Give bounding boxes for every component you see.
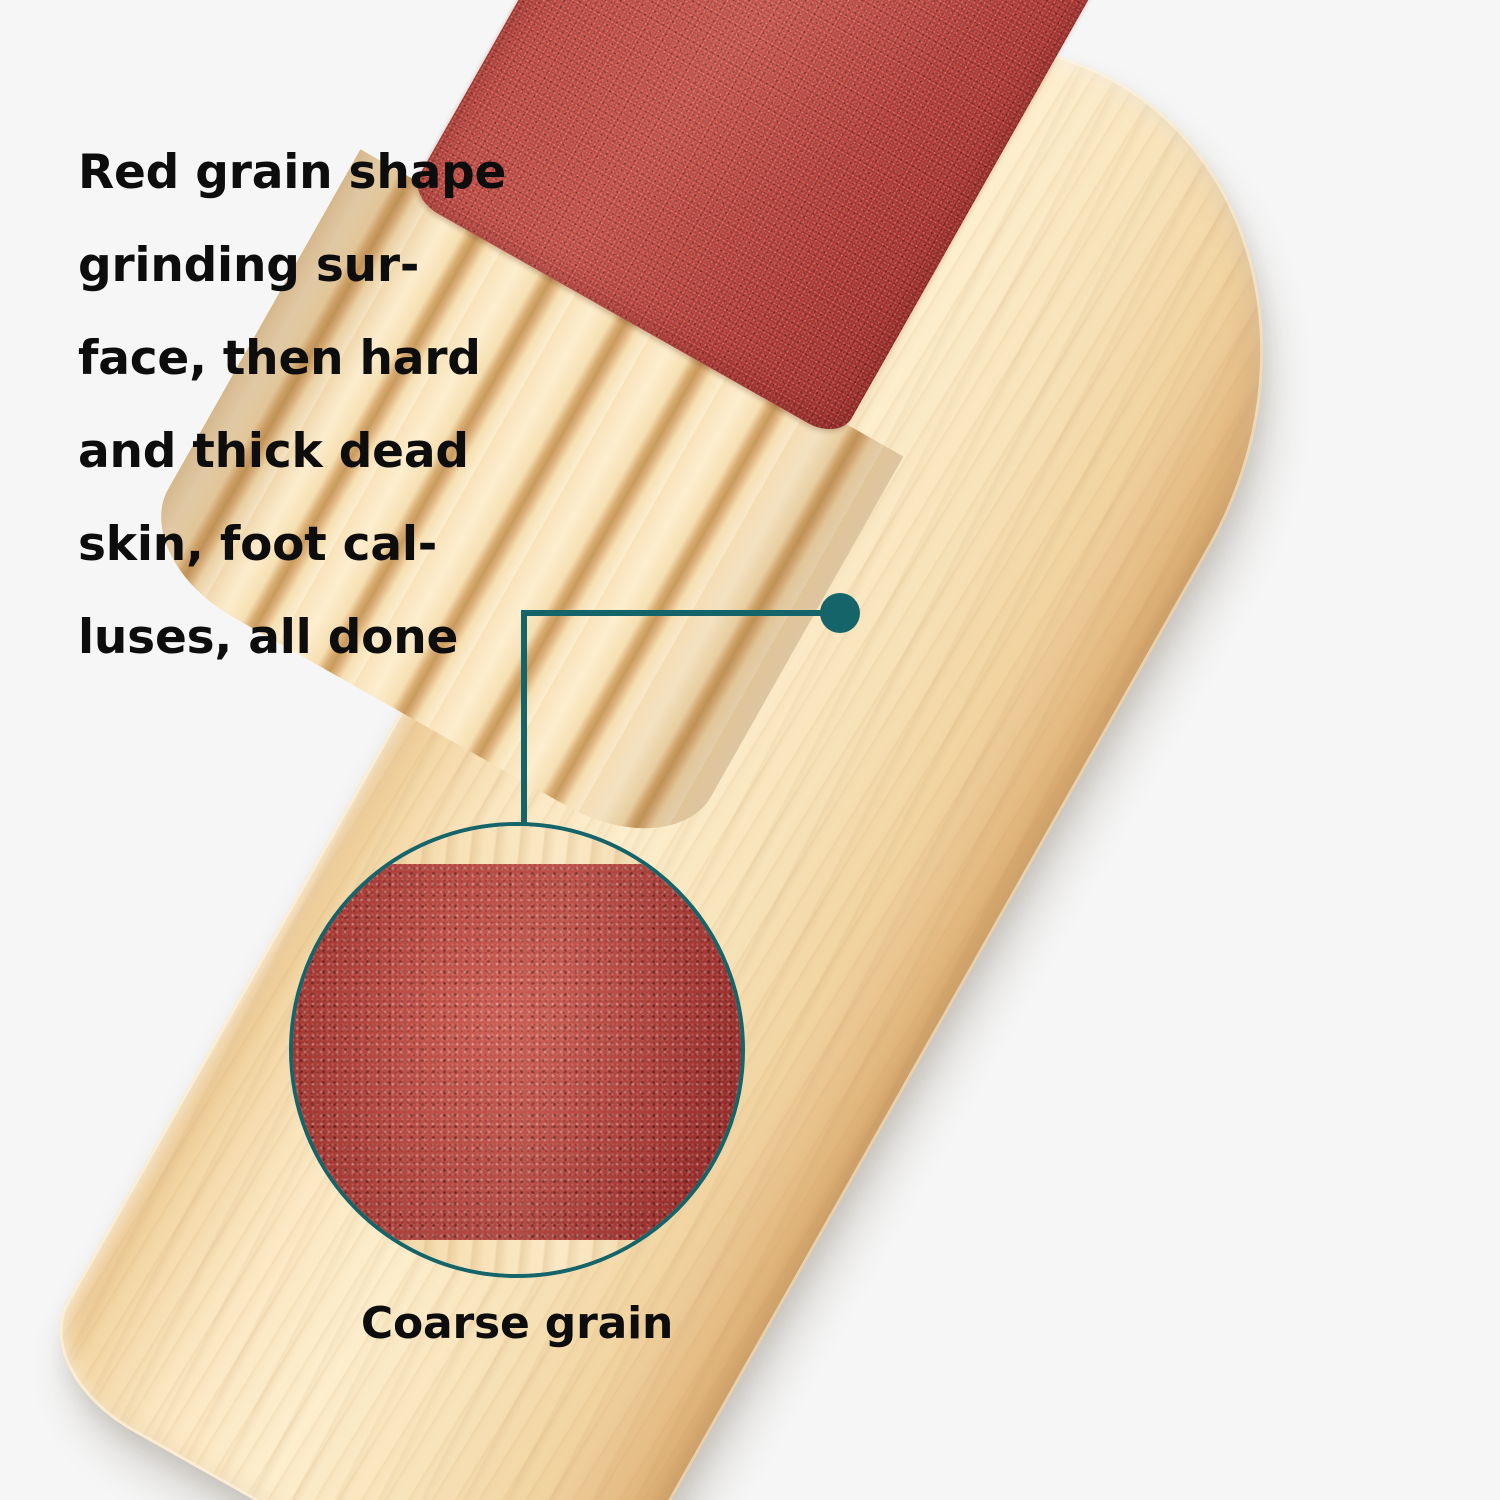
leader-line (524, 613, 840, 830)
callout-dot (820, 593, 860, 633)
magnifier-wood-bottom (293, 1240, 741, 1274)
coarse-grain-magnifier (289, 822, 745, 1278)
infographic-canvas: Red grain shape grinding sur- face, then… (0, 0, 1500, 1500)
magnifier-wood-top (293, 826, 741, 866)
magnifier-caption: Coarse grain (289, 1298, 745, 1349)
callout-leader (0, 0, 1500, 1500)
magnifier-grit-band (293, 864, 741, 1242)
